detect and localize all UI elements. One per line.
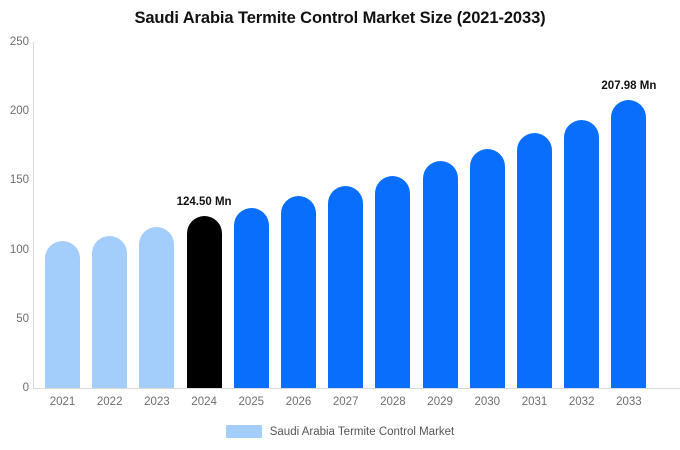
legend-label: Saudi Arabia Termite Control Market: [270, 426, 455, 438]
x-axis-tick-2024: 2024: [178, 396, 230, 408]
x-axis-tick-2029: 2029: [414, 396, 466, 408]
bar-value-label-2033: 207.98 Mn: [601, 80, 656, 92]
x-axis-tick-2021: 2021: [37, 396, 89, 408]
x-axis-tick-2023: 2023: [131, 396, 183, 408]
x-axis-tick-2028: 2028: [367, 396, 419, 408]
x-axis-tick-2030: 2030: [461, 396, 513, 408]
bar-value-label-2024: 124.50 Mn: [177, 196, 232, 208]
x-axis-tick-labels: 2021202220232024202520262027202820292030…: [0, 0, 680, 450]
x-axis-tick-2032: 2032: [556, 396, 608, 408]
x-axis-tick-2027: 2027: [320, 396, 372, 408]
chart-container: Saudi Arabia Termite Control Market Size…: [0, 0, 680, 450]
legend-swatch-icon: [226, 425, 262, 438]
x-axis-tick-2031: 2031: [509, 396, 561, 408]
x-axis-tick-2022: 2022: [84, 396, 136, 408]
x-axis-tick-2026: 2026: [273, 396, 325, 408]
x-axis-tick-2033: 2033: [603, 396, 655, 408]
x-axis-tick-2025: 2025: [225, 396, 277, 408]
legend: Saudi Arabia Termite Control Market: [0, 425, 680, 438]
